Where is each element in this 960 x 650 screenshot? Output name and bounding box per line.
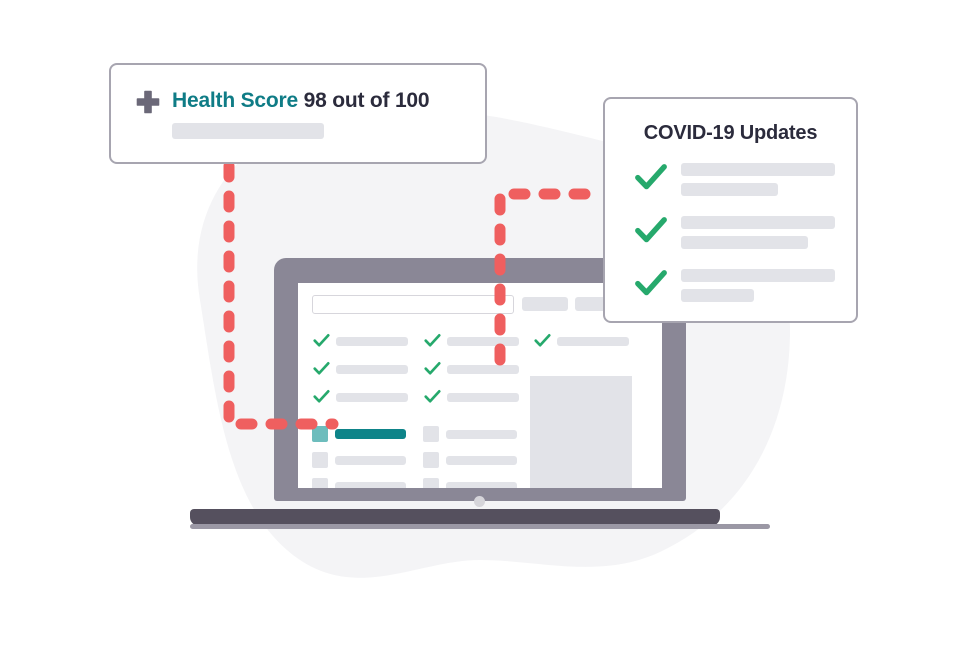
list-item-label: [446, 482, 517, 488]
list-item-thumbnail: [312, 452, 328, 468]
check-icon: [423, 387, 442, 406]
health-score-label: Health Score: [172, 89, 304, 112]
placeholder-bar: [447, 365, 519, 374]
camera-dot-icon: [474, 496, 485, 507]
check-icon: [633, 159, 669, 195]
list-item-thumbnail: [312, 426, 328, 442]
list-item-label: [446, 430, 517, 439]
list-item-thumbnail: [312, 478, 328, 488]
check-icon: [633, 212, 669, 248]
medical-plus-icon: [136, 90, 160, 114]
check-icon: [423, 359, 442, 378]
list-item-thumbnail: [423, 426, 439, 442]
placeholder-bar: [681, 216, 835, 229]
placeholder-bar: [336, 393, 408, 402]
health-score-heading: Health Score 98 out of 100: [172, 87, 429, 115]
list-item-label: [446, 456, 517, 465]
list-item-thumbnail: [423, 478, 439, 488]
placeholder-bar: [336, 337, 408, 346]
placeholder-bar: [557, 337, 629, 346]
placeholder-bar: [681, 289, 754, 302]
health-score-card: Health Score 98 out of 100: [109, 63, 487, 164]
check-icon: [312, 387, 331, 406]
placeholder-bar: [447, 393, 519, 402]
illustration-canvas: Health Score 98 out of 100 COVID-19 Upda…: [0, 0, 960, 650]
placeholder-bar: [447, 337, 519, 346]
placeholder-bar: [681, 236, 808, 249]
placeholder-bar: [681, 269, 835, 282]
check-icon: [312, 331, 331, 350]
health-score-value: 98 out of 100: [304, 89, 430, 112]
placeholder-bar: [336, 365, 408, 374]
search-input[interactable]: [312, 295, 514, 314]
covid-updates-title: COVID-19 Updates: [605, 122, 856, 145]
list-item-label: [335, 456, 406, 465]
placeholder-bar: [681, 183, 778, 196]
check-icon: [633, 265, 669, 301]
list-item-label: [335, 482, 406, 488]
list-item-thumbnail: [423, 452, 439, 468]
content-panel: [530, 376, 632, 488]
check-icon: [312, 359, 331, 378]
covid-updates-card: COVID-19 Updates: [603, 97, 858, 323]
check-icon: [423, 331, 442, 350]
list-item-label: [335, 429, 406, 439]
placeholder-bar: [681, 163, 835, 176]
toolbar-button-1[interactable]: [522, 297, 568, 311]
check-icon: [533, 331, 552, 350]
ground-line: [190, 524, 770, 529]
placeholder-bar: [172, 123, 324, 139]
